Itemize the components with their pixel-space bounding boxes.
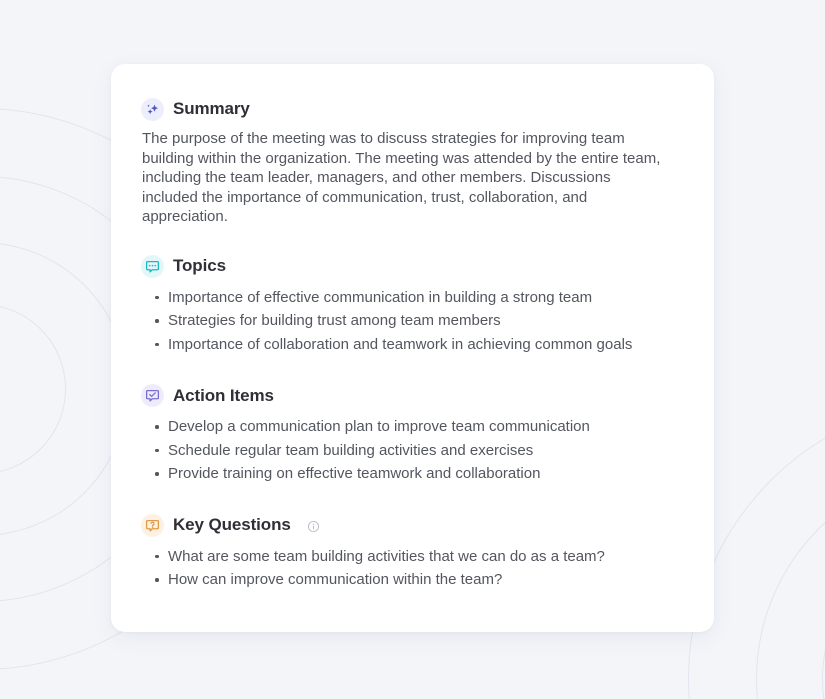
list-item: Importance of effective communication in… bbox=[141, 286, 684, 310]
spacer bbox=[141, 360, 684, 384]
info-circle-icon[interactable] bbox=[307, 520, 320, 533]
section-title: Key Questions bbox=[173, 515, 291, 535]
section-topics: Topics Importance of effective communica… bbox=[141, 255, 684, 357]
sparkles-icon bbox=[141, 98, 164, 121]
topics-list: Importance of effective communication in… bbox=[141, 286, 684, 357]
list-item: Schedule regular team building activitie… bbox=[141, 439, 684, 463]
spacer bbox=[141, 231, 684, 255]
meeting-summary-card: Summary The purpose of the meeting was t… bbox=[111, 64, 714, 632]
speech-bubble-check-icon bbox=[141, 384, 164, 407]
section-summary: Summary The purpose of the meeting was t… bbox=[141, 98, 684, 227]
decorative-ring bbox=[0, 304, 66, 474]
section-key-questions-header: Key Questions bbox=[141, 514, 684, 537]
list-item: Strategies for building trust among team… bbox=[141, 309, 684, 333]
spacer bbox=[141, 490, 684, 514]
section-key-questions: Key Questions What are some team buildin… bbox=[141, 514, 684, 592]
list-item: Provide training on effective teamwork a… bbox=[141, 462, 684, 486]
section-topics-header: Topics bbox=[141, 255, 684, 278]
section-summary-header: Summary bbox=[141, 98, 684, 121]
section-title: Summary bbox=[173, 99, 250, 119]
section-action-items-header: Action Items bbox=[141, 384, 684, 407]
summary-paragraph: The purpose of the meeting was to discus… bbox=[142, 129, 667, 227]
action-items-list: Develop a communication plan to improve … bbox=[141, 415, 684, 486]
section-title: Topics bbox=[173, 256, 226, 276]
list-item: Develop a communication plan to improve … bbox=[141, 415, 684, 439]
decorative-ring bbox=[0, 242, 128, 536]
section-action-items: Action Items Develop a communication pla… bbox=[141, 384, 684, 486]
decorative-ring bbox=[756, 466, 825, 699]
key-questions-list: What are some team building activities t… bbox=[141, 545, 684, 592]
list-item: Importance of collaboration and teamwork… bbox=[141, 333, 684, 357]
list-item: How can improve communication within the… bbox=[141, 568, 684, 592]
list-item: What are some team building activities t… bbox=[141, 545, 684, 569]
section-title: Action Items bbox=[173, 386, 274, 406]
speech-bubble-dots-icon bbox=[141, 255, 164, 278]
speech-bubble-question-icon bbox=[141, 514, 164, 537]
